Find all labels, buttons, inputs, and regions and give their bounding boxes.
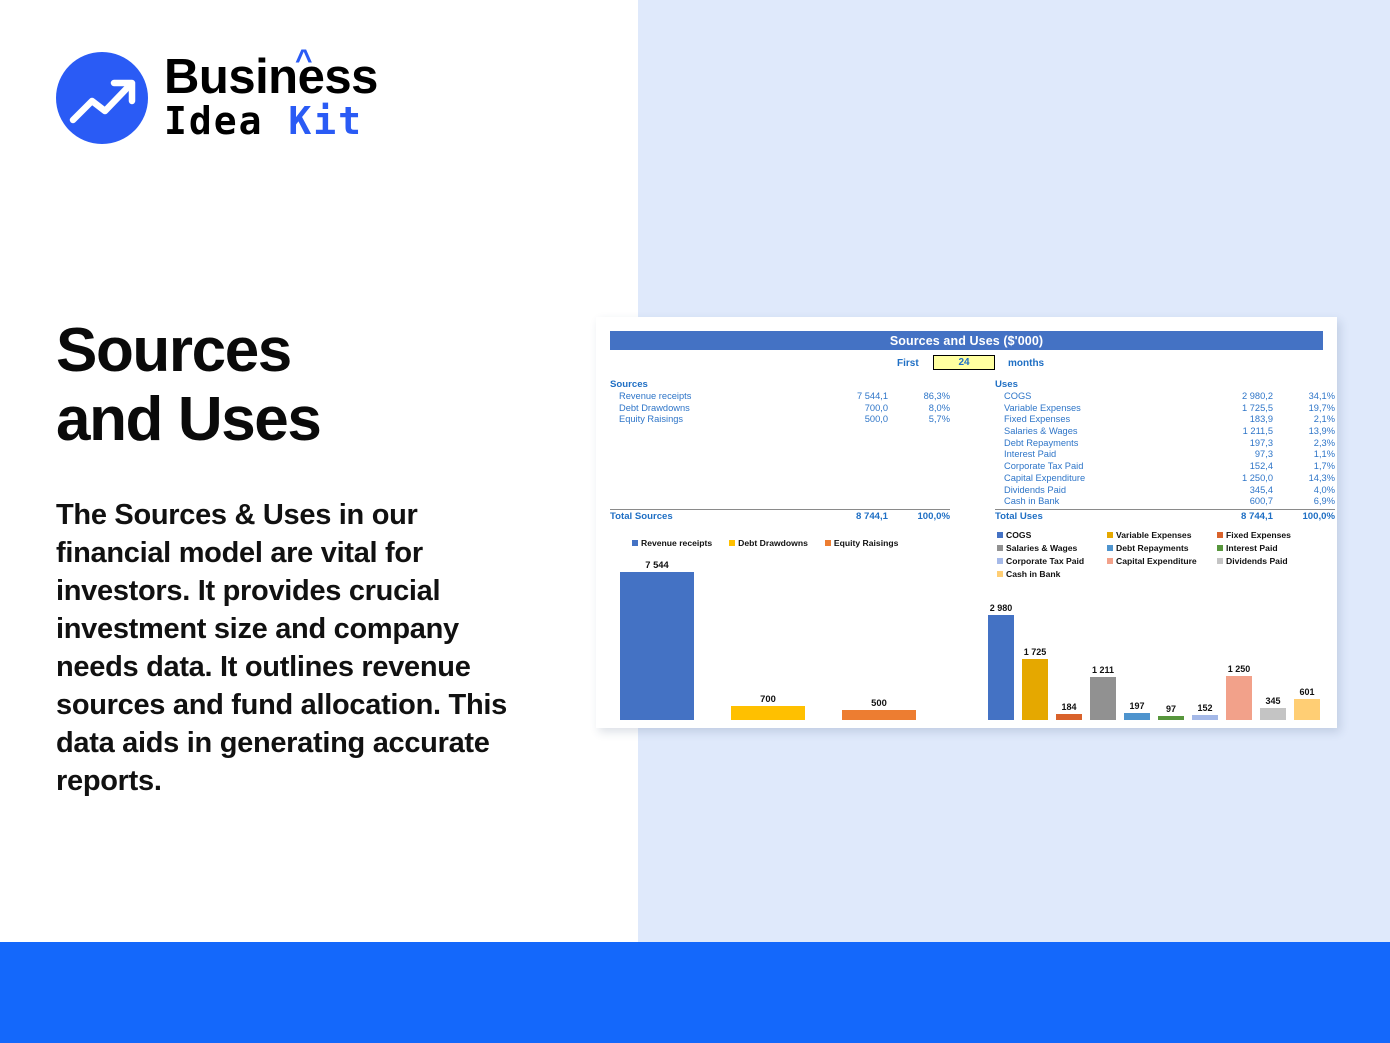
uses-row-value: 345,4 — [1195, 485, 1273, 497]
uses-row-value: 197,3 — [1195, 438, 1273, 450]
table-row: Corporate Tax Paid152,41,7% — [995, 461, 1335, 473]
uses-row-label: Salaries & Wages — [995, 426, 1195, 438]
table-row: Variable Expenses1 725,519,7% — [995, 403, 1335, 415]
legend-row: Revenue receiptsDebt DrawdownsEquity Rai… — [632, 536, 932, 549]
uses-row-value: 97,3 — [1195, 449, 1273, 461]
sources-row-label: Revenue receipts — [610, 391, 810, 403]
slide-canvas: Business ^ Idea Kit Sources and Uses The… — [0, 0, 1390, 1043]
chart-bar-label: 601 — [1299, 687, 1314, 697]
uses-row-pct: 1,1% — [1273, 449, 1335, 461]
brand-name-secondary: Idea Kit — [164, 102, 378, 142]
brand-logo: Business ^ Idea Kit — [56, 52, 378, 144]
chart-bar-group: 197 — [1124, 701, 1150, 720]
legend-label: Fixed Expenses — [1226, 530, 1291, 540]
sources-row-pct: 86,3% — [888, 391, 950, 403]
chart-bar — [842, 710, 916, 720]
uses-row-pct: 4,0% — [1273, 485, 1335, 497]
chart-bar-label: 197 — [1129, 701, 1144, 711]
uses-total-pct: 100,0% — [1273, 511, 1335, 522]
uses-row-pct: 6,9% — [1273, 496, 1335, 508]
brand-name-primary: Business ^ — [164, 54, 378, 101]
uses-row-value: 152,4 — [1195, 461, 1273, 473]
chart-bar-group: 152 — [1192, 703, 1218, 720]
legend-label: Capital Expenditure — [1116, 556, 1197, 566]
uses-row-pct: 1,7% — [1273, 461, 1335, 473]
table-row: Equity Raisings500,05,7% — [610, 414, 950, 426]
uses-row-pct: 34,1% — [1273, 391, 1335, 403]
chart-bar-group: 184 — [1056, 702, 1082, 720]
chart-bar-group: 97 — [1158, 704, 1184, 720]
legend-label: Variable Expenses — [1116, 530, 1191, 540]
sources-table: Sources Revenue receipts7 544,186,3%Debt… — [610, 379, 950, 522]
chart-bar — [1226, 676, 1252, 720]
table-row: Cash in Bank600,76,9% — [995, 496, 1335, 508]
chart-bar-label: 500 — [871, 697, 887, 708]
legend-swatch-icon — [1217, 558, 1223, 564]
legend-item[interactable]: Cash in Bank — [997, 569, 1107, 579]
legend-item[interactable]: Debt Repayments — [1107, 543, 1217, 553]
brand-idea-text: Idea — [164, 99, 264, 143]
table-row: Revenue receipts7 544,186,3% — [610, 391, 950, 403]
legend-label: Cash in Bank — [1006, 569, 1060, 579]
period-prefix-label: First — [897, 358, 919, 369]
sources-row-value: 7 544,1 — [810, 391, 888, 403]
table-row: Capital Expenditure1 250,014,3% — [995, 473, 1335, 485]
sheet-title-bar: Sources and Uses ($'000) — [610, 331, 1323, 350]
legend-item[interactable]: Variable Expenses — [1107, 530, 1217, 540]
chart-bar-group: 2 980 — [988, 603, 1014, 720]
legend-swatch-icon — [997, 558, 1003, 564]
chart-bar-group: 500 — [842, 697, 916, 720]
chart-bar — [1090, 677, 1116, 720]
sources-chart-legend: Revenue receiptsDebt DrawdownsEquity Rai… — [632, 536, 932, 549]
legend-item[interactable]: Capital Expenditure — [1107, 556, 1217, 566]
uses-row-value: 1 725,5 — [1195, 403, 1273, 415]
uses-total-row: Total Uses 8 744,1 100,0% — [995, 509, 1335, 522]
legend-label: Interest Paid — [1226, 543, 1278, 553]
uses-chart-legend: COGSVariable ExpensesFixed ExpensesSalar… — [997, 528, 1327, 580]
uses-row-label: Fixed Expenses — [995, 414, 1195, 426]
legend-swatch-icon — [1107, 545, 1113, 551]
uses-row-pct: 13,9% — [1273, 426, 1335, 438]
sources-row-pct: 5,7% — [888, 414, 950, 426]
legend-swatch-icon — [1217, 545, 1223, 551]
uses-row-pct: 14,3% — [1273, 473, 1335, 485]
legend-item[interactable]: Revenue receipts — [632, 538, 712, 548]
legend-label: Salaries & Wages — [1006, 543, 1077, 553]
chart-bar-label: 152 — [1197, 703, 1212, 713]
chart-bar — [1294, 699, 1320, 720]
chart-bar-label: 700 — [760, 693, 776, 704]
brand-name-text: Business — [164, 50, 378, 104]
uses-row-pct: 2,3% — [1273, 438, 1335, 450]
legend-swatch-icon — [825, 540, 831, 546]
uses-row-pct: 2,1% — [1273, 414, 1335, 426]
sources-table-spacer — [610, 426, 950, 508]
sources-table-header: Sources — [610, 379, 950, 391]
chart-bar — [988, 615, 1014, 720]
chart-bar-group: 7 544 — [620, 559, 694, 720]
period-selector-row: First 24 months — [610, 355, 1323, 371]
uses-row-label: Cash in Bank — [995, 496, 1195, 508]
legend-item[interactable]: Equity Raisings — [825, 538, 898, 548]
chart-bar-label: 2 980 — [990, 603, 1013, 613]
legend-swatch-icon — [997, 532, 1003, 538]
legend-label: COGS — [1006, 530, 1031, 540]
chart-bar — [620, 572, 694, 720]
uses-row-label: COGS — [995, 391, 1195, 403]
uses-row-value: 183,9 — [1195, 414, 1273, 426]
sources-row-label: Debt Drawdowns — [610, 403, 810, 415]
sources-row-label: Equity Raisings — [610, 414, 810, 426]
uses-total-value: 8 744,1 — [1195, 511, 1273, 522]
sources-row-pct: 8,0% — [888, 403, 950, 415]
uses-row-label: Debt Repayments — [995, 438, 1195, 450]
uses-row-label: Capital Expenditure — [995, 473, 1195, 485]
uses-row-label: Corporate Tax Paid — [995, 461, 1195, 473]
legend-item[interactable]: Dividends Paid — [1217, 556, 1327, 566]
chart-bar-label: 97 — [1166, 704, 1176, 714]
brand-kit-text: Kit — [288, 99, 363, 143]
table-row: Fixed Expenses183,92,1% — [995, 414, 1335, 426]
uses-row-label: Dividends Paid — [995, 485, 1195, 497]
sources-chart: 7 544700500 — [620, 556, 930, 720]
legend-label: Corporate Tax Paid — [1006, 556, 1084, 566]
chart-bar — [731, 706, 805, 720]
legend-label: Dividends Paid — [1226, 556, 1288, 566]
chart-bar-label: 7 544 — [645, 559, 668, 570]
chart-bar — [1056, 714, 1082, 720]
legend-swatch-icon — [1107, 532, 1113, 538]
legend-label: Equity Raisings — [834, 538, 898, 548]
chart-bar-group: 345 — [1260, 696, 1286, 720]
table-row: Dividends Paid345,44,0% — [995, 485, 1335, 497]
uses-row-pct: 19,7% — [1273, 403, 1335, 415]
uses-row-value: 2 980,2 — [1195, 391, 1273, 403]
chart-bar-label: 184 — [1061, 702, 1076, 712]
table-row: COGS2 980,234,1% — [995, 391, 1335, 403]
uses-row-value: 1 250,0 — [1195, 473, 1273, 485]
legend-label: Debt Drawdowns — [738, 538, 808, 548]
chart-bar-label: 1 211 — [1092, 665, 1114, 675]
chart-bar-group: 1 250 — [1226, 664, 1252, 720]
legend-row: Salaries & WagesDebt RepaymentsInterest … — [997, 541, 1327, 554]
growth-arrow-icon — [56, 52, 148, 144]
table-row: Interest Paid97,31,1% — [995, 449, 1335, 461]
uses-row-value: 600,7 — [1195, 496, 1273, 508]
table-row: Debt Repayments197,32,3% — [995, 438, 1335, 450]
page-title: Sources and Uses — [56, 316, 596, 455]
chart-bar-label: 345 — [1265, 696, 1280, 706]
legend-item[interactable]: Salaries & Wages — [997, 543, 1107, 553]
legend-swatch-icon — [1107, 558, 1113, 564]
sources-total-label: Total Sources — [610, 511, 810, 522]
legend-item[interactable]: Corporate Tax Paid — [997, 556, 1107, 566]
chart-bar — [1260, 708, 1286, 720]
sources-total-value: 8 744,1 — [810, 511, 888, 522]
legend-swatch-icon — [729, 540, 735, 546]
table-row: Debt Drawdowns700,08,0% — [610, 403, 950, 415]
uses-table-header: Uses — [995, 379, 1335, 391]
chart-bar — [1022, 659, 1048, 720]
legend-swatch-icon — [632, 540, 638, 546]
months-input[interactable]: 24 — [933, 355, 995, 370]
legend-swatch-icon — [1217, 532, 1223, 538]
legend-label: Revenue receipts — [641, 538, 712, 548]
uses-row-label: Interest Paid — [995, 449, 1195, 461]
uses-row-value: 1 211,5 — [1195, 426, 1273, 438]
legend-row: Corporate Tax PaidCapital ExpenditureDiv… — [997, 554, 1327, 567]
uses-table: Uses COGS2 980,234,1%Variable Expenses1 … — [995, 379, 1335, 522]
chart-bar-group: 601 — [1294, 687, 1320, 720]
table-row: Salaries & Wages1 211,513,9% — [995, 426, 1335, 438]
legend-item[interactable]: COGS — [997, 530, 1107, 540]
uses-total-label: Total Uses — [995, 511, 1195, 522]
sources-total-row: Total Sources 8 744,1 100,0% — [610, 509, 950, 522]
period-suffix-label: months — [1008, 358, 1044, 369]
sources-row-value: 500,0 — [810, 414, 888, 426]
chart-bar-group: 1 211 — [1090, 665, 1116, 720]
chart-bar-label: 1 250 — [1228, 664, 1251, 674]
chart-bar-label: 1 725 — [1024, 647, 1047, 657]
legend-label: Debt Repayments — [1116, 543, 1189, 553]
legend-swatch-icon — [997, 545, 1003, 551]
legend-item[interactable]: Interest Paid — [1217, 543, 1327, 553]
chart-bar-group: 700 — [731, 693, 805, 720]
legend-row: Cash in Bank — [997, 567, 1327, 580]
sources-total-pct: 100,0% — [888, 511, 950, 522]
uses-chart: 2 9801 7251841 211197971521 250345601 — [988, 600, 1330, 720]
sources-row-value: 700,0 — [810, 403, 888, 415]
chart-bar — [1124, 713, 1150, 720]
chart-bar — [1192, 715, 1218, 720]
legend-item[interactable]: Debt Drawdowns — [729, 538, 808, 548]
legend-item[interactable]: Fixed Expenses — [1217, 530, 1327, 540]
brand-circumflex-accent: ^ — [295, 47, 312, 76]
chart-bar-group: 1 725 — [1022, 647, 1048, 720]
page-description: The Sources & Uses in our financial mode… — [56, 497, 516, 801]
legend-row: COGSVariable ExpensesFixed Expenses — [997, 528, 1327, 541]
legend-swatch-icon — [997, 571, 1003, 577]
chart-bar — [1158, 716, 1184, 720]
footer-accent-bar — [0, 942, 1390, 1043]
uses-row-label: Variable Expenses — [995, 403, 1195, 415]
